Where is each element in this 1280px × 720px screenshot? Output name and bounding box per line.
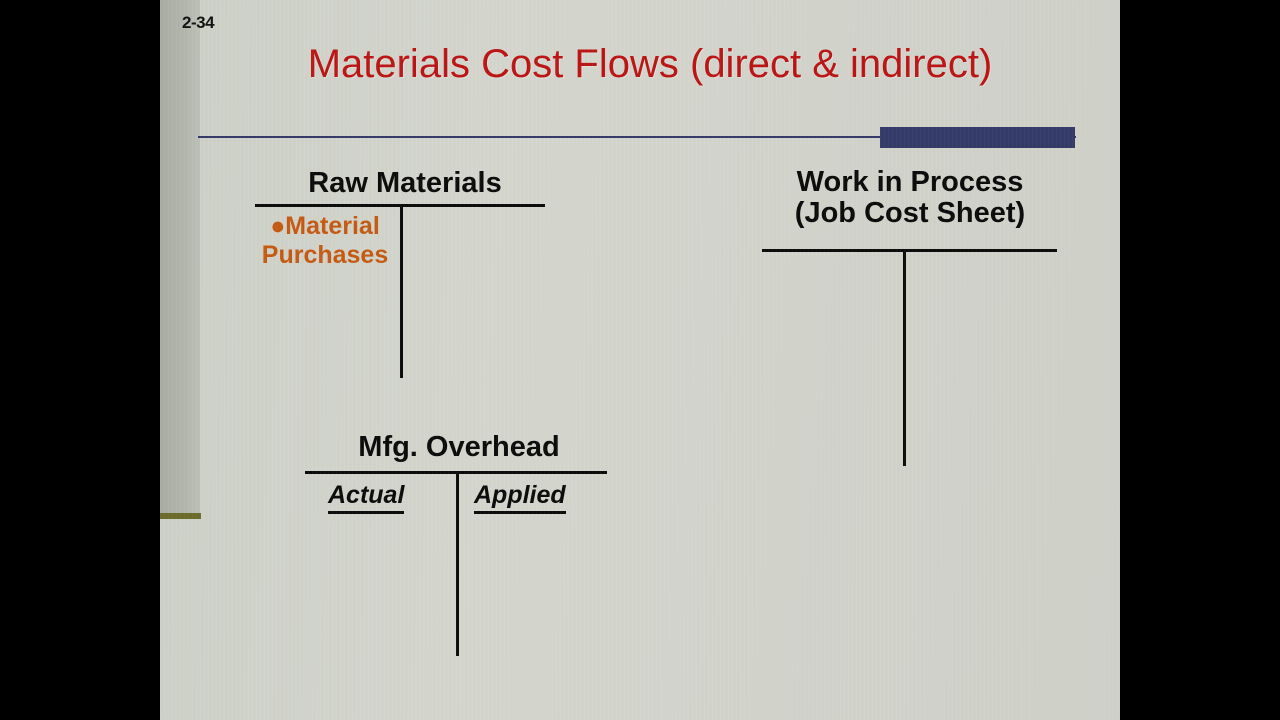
t-account-column-header-actual: Actual — [328, 481, 404, 514]
title-divider-accent-block — [880, 127, 1075, 148]
slide-number: 2-34 — [182, 13, 214, 33]
t-account-title-raw-materials: Raw Materials — [255, 168, 555, 199]
presentation-slide: 2-34 Materials Cost Flows (direct & indi… — [160, 0, 1120, 720]
t-account-work-in-process: Work in Process (Job Cost Sheet) — [760, 167, 1060, 228]
t-account-title-mfg-overhead: Mfg. Overhead — [308, 432, 610, 463]
t-account-title-work-in-process-line2: (Job Cost Sheet) — [760, 198, 1060, 229]
t-account-mfg-overhead: Mfg. Overhead — [308, 432, 610, 463]
video-frame: 2-34 Materials Cost Flows (direct & indi… — [0, 0, 1280, 720]
page-title: Materials Cost Flows (direct & indirect) — [200, 42, 1100, 87]
t-account-column-header-applied: Applied — [474, 481, 566, 514]
t-account-stem-work-in-process — [903, 250, 906, 466]
t-account-stem-mfg-overhead — [456, 472, 459, 656]
slide-left-accent-bar — [160, 513, 201, 519]
slide-left-accent-strip — [160, 0, 200, 513]
entry-line-2: Purchases — [230, 241, 420, 270]
t-account-rule-work-in-process — [762, 249, 1057, 252]
t-account-debit-entry-raw-materials: ●Material Purchases — [230, 212, 420, 270]
entry-line-1: ●Material — [230, 212, 420, 241]
t-account-raw-materials: Raw Materials — [255, 168, 555, 199]
t-account-title-work-in-process-line1: Work in Process — [760, 167, 1060, 198]
